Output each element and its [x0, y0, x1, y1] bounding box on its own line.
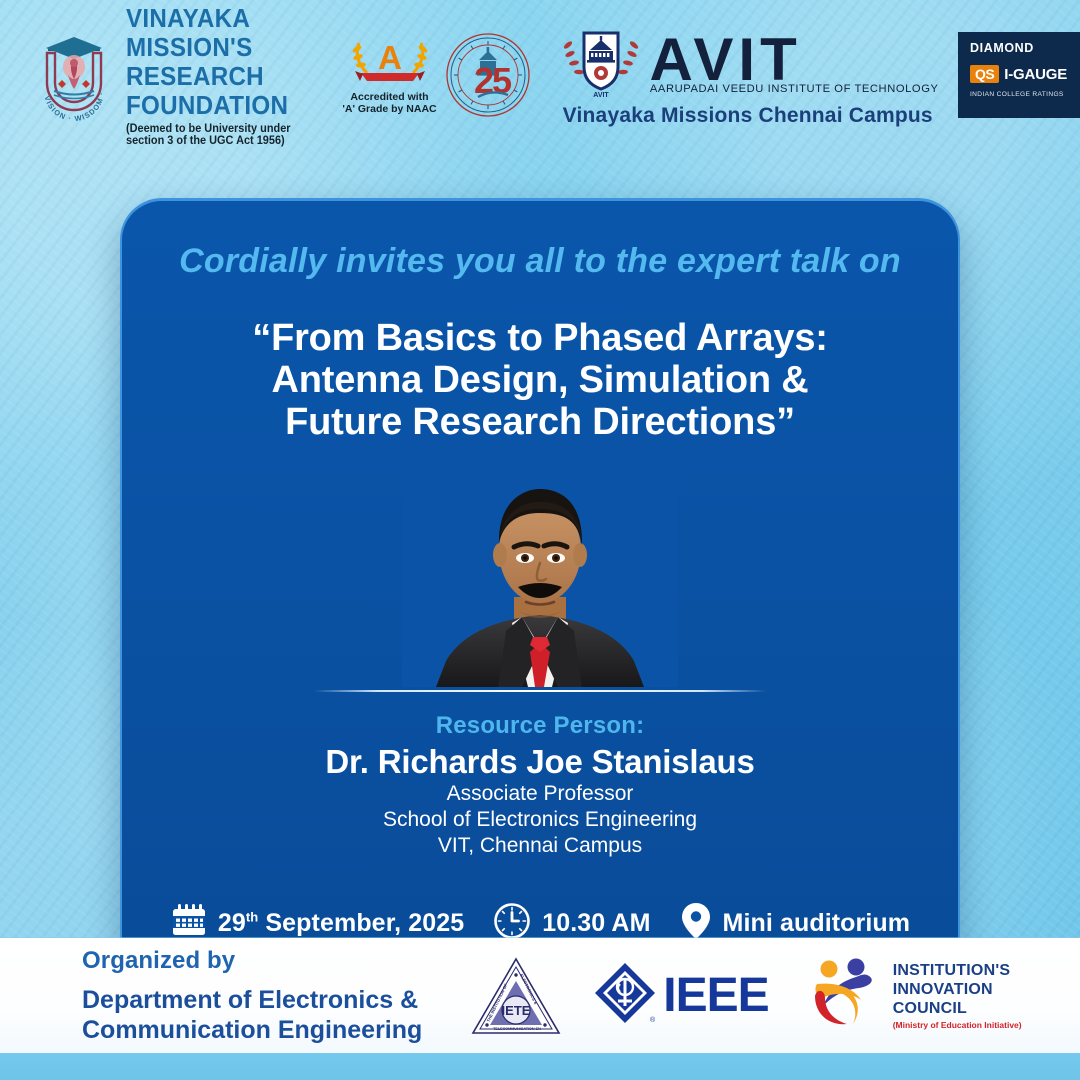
naac-caption-line1: Accredited with: [350, 91, 428, 103]
event-date-text: 29th September, 2025: [218, 909, 464, 938]
qs-mark: QS: [970, 65, 999, 83]
iic-subtitle: (Ministry of Education Initiative): [893, 1020, 1022, 1030]
resource-person-designation: Associate Professor: [122, 781, 958, 807]
avit-shield-label: AVIT: [593, 92, 609, 99]
svg-text:®: ®: [650, 1016, 656, 1024]
qs-igauge-badge: DIAMOND QS I-GAUGE INDIAN COLLEGE RATING…: [958, 32, 1080, 118]
vmrf-line1: VINAYAKA MISSION'S: [126, 4, 306, 62]
svg-text:5: 5: [492, 60, 512, 101]
naac-wreath-icon: A: [347, 35, 433, 89]
department-line1: Department of Electronics &: [82, 985, 422, 1015]
invitation-card: Cordially invites you all to the expert …: [120, 198, 960, 988]
resource-person-label: Resource Person:: [122, 712, 958, 740]
talk-title-line1: “From Basics to Phased Arrays:: [122, 317, 958, 359]
iic-line1: INSTITUTION'S: [893, 962, 1011, 979]
bottom-strip: [0, 1053, 1080, 1080]
25-years-emblem-icon: 2 5: [444, 31, 532, 119]
event-time-text: 10.30 AM: [542, 909, 650, 938]
qs-subtitle: INDIAN COLLEGE RATINGS: [970, 91, 1070, 98]
resource-person-institute: VIT, Chennai Campus: [122, 833, 958, 859]
speaker-portrait: [402, 465, 678, 687]
iete-triangle-icon: IETE THE INSTITUTION OF ELECTRONICS & TE…: [470, 955, 562, 1037]
department-name: Department of Electronics & Communicatio…: [82, 985, 422, 1045]
resource-person-name: Dr. Richards Joe Stanislaus: [122, 743, 958, 781]
naac-caption-line2: 'A' Grade by NAAC: [342, 103, 436, 115]
iic-figures-icon: [809, 956, 885, 1035]
naac-logo-group: A Accredited with 'A' Grade by NAAC: [342, 35, 438, 116]
organizer-block: Organized by Department of Electronics &…: [82, 947, 422, 1045]
talk-title-line2: Antenna Design, Simulation &: [122, 359, 958, 401]
vmrf-logo-group: VISION · WISDOM · UNITY VINAYAKA MISSION…: [32, 4, 320, 147]
ieee-logo-group: ® IEEE: [592, 960, 768, 1031]
avit-logo-group: AVIT AVIT AARUPADAI VEEDU INSTITUTE OF T…: [558, 23, 939, 128]
partner-logos: IETE THE INSTITUTION OF ELECTRONICS & TE…: [470, 955, 1021, 1037]
avit-campus: Vinayaka Missions Chennai Campus: [558, 104, 939, 128]
section-divider: [314, 690, 766, 692]
resource-person-school: School of Electronics Engineering: [122, 807, 958, 833]
qs-name: I-GAUGE: [1004, 66, 1067, 83]
ieee-diamond-icon: ®: [592, 960, 658, 1031]
iete-acronym: IETE: [502, 1003, 531, 1018]
iic-line3: COUNCIL: [893, 1000, 967, 1017]
event-venue-text: Mini auditorium: [723, 909, 911, 938]
vmrf-line2: RESEARCH FOUNDATION: [126, 62, 306, 120]
iic-logo-group: INSTITUTION'S INNOVATION COUNCIL (Minist…: [809, 956, 1022, 1035]
department-line2: Communication Engineering: [82, 1015, 422, 1045]
vmrf-subtitle: (Deemed to be University under section 3…: [126, 123, 310, 147]
avit-wordmark: AVIT: [650, 31, 939, 89]
vmrf-crest-icon: VISION · WISDOM · UNITY: [32, 29, 116, 121]
footer-band: Organized by Department of Electronics &…: [0, 938, 1080, 1053]
iic-line2: INNOVATION: [893, 981, 993, 998]
svg-text:A: A: [378, 39, 402, 76]
ieee-wordmark: IEEE: [663, 968, 768, 1023]
avit-expansion: AARUPADAI VEEDU INSTITUTE OF TECHNOLOGY: [649, 83, 938, 95]
avit-shield-icon: AVIT: [558, 23, 644, 103]
talk-title-line3: Future Research Directions”: [122, 401, 958, 443]
talk-title: “From Basics to Phased Arrays: Antenna D…: [122, 317, 958, 443]
invite-line: Cordially invites you all to the expert …: [122, 242, 958, 281]
header-logo-strip: VISION · WISDOM · UNITY VINAYAKA MISSION…: [0, 0, 1080, 150]
qs-tier: DIAMOND: [970, 41, 1070, 55]
organized-by-label: Organized by: [82, 947, 422, 975]
